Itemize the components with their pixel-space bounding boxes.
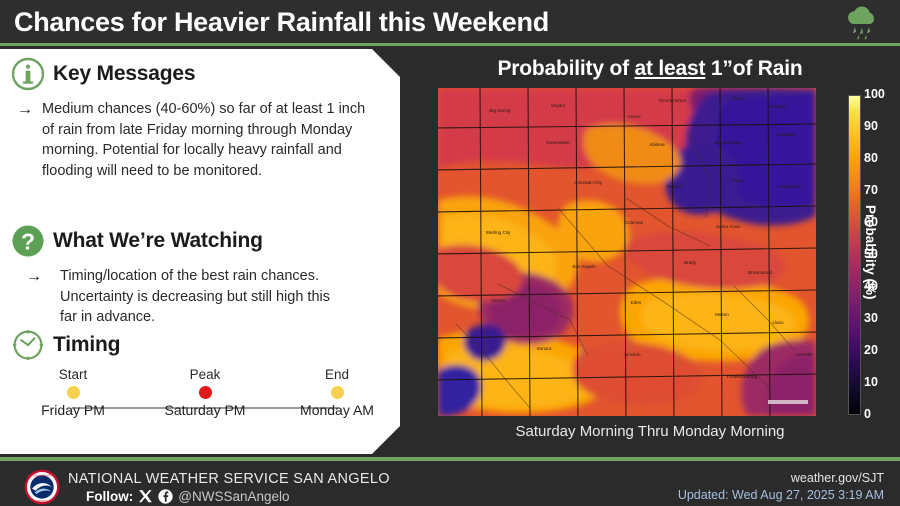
svg-text:Sweetwater: Sweetwater bbox=[546, 140, 570, 145]
map-title-underlined: at least bbox=[635, 57, 706, 80]
svg-text:Llano: Llano bbox=[772, 320, 784, 325]
timeline-node-peak: Peak Saturday PM bbox=[150, 367, 260, 419]
section-timing: Timing Start Friday PM Peak Saturday PM … bbox=[8, 325, 400, 447]
colorbar: 100 90 80 70 60 50 40 30 20 10 0 Probabi… bbox=[848, 95, 900, 415]
colorbar-gradient bbox=[848, 95, 861, 415]
x-twitter-icon[interactable] bbox=[138, 489, 153, 504]
timeline-node-dot bbox=[67, 386, 80, 399]
map-title: Probability of at least 1”of Rain bbox=[400, 57, 900, 81]
svg-text:Junction: Junction bbox=[623, 352, 641, 357]
timeline-node-end: End Monday AM bbox=[282, 367, 392, 419]
colorbar-tick: 100 bbox=[864, 87, 885, 101]
svg-text:Fredericksburg: Fredericksburg bbox=[727, 374, 758, 379]
svg-text:?: ? bbox=[21, 229, 35, 255]
map-title-pre: Probability of bbox=[498, 57, 635, 80]
section-header: ? What We’re Watching bbox=[8, 221, 400, 261]
info-circle-icon bbox=[8, 54, 48, 94]
section-title: What We’re Watching bbox=[53, 229, 263, 253]
colorbar-tick: 10 bbox=[864, 375, 878, 389]
colorbar-tick: 70 bbox=[864, 183, 878, 197]
section-title: Key Messages bbox=[53, 62, 195, 86]
svg-text:Olney: Olney bbox=[732, 96, 745, 101]
svg-text:Brownwood: Brownwood bbox=[748, 270, 772, 275]
svg-text:Colorado City: Colorado City bbox=[574, 180, 603, 185]
svg-text:Eden: Eden bbox=[631, 300, 642, 305]
map-scale-bar bbox=[768, 400, 808, 404]
footer-bar: NATIONAL WEATHER SERVICE NATIONAL WEATHE… bbox=[0, 457, 900, 506]
svg-text:Anson: Anson bbox=[627, 114, 640, 119]
bullet-item: → Timing/location of the best rain chanc… bbox=[8, 266, 400, 328]
svg-text:Snyder: Snyder bbox=[551, 103, 566, 108]
svg-text:San Angelo: San Angelo bbox=[572, 264, 596, 269]
timeline-node-start: Start Friday PM bbox=[18, 367, 128, 419]
colorbar-tick: 20 bbox=[864, 343, 878, 357]
key-messages-panel: Key Messages → Medium chances (40-60%) s… bbox=[0, 49, 400, 454]
page-title: Chances for Heavier Rainfall this Weeken… bbox=[14, 7, 549, 38]
bullet-text: Timing/location of the best rain chances… bbox=[60, 266, 338, 328]
header-bar: Chances for Heavier Rainfall this Weeken… bbox=[0, 0, 900, 46]
svg-text:Abilene: Abilene bbox=[649, 142, 665, 147]
bullet-item: → Medium chances (40-60%) so far of at l… bbox=[8, 99, 400, 181]
timeline-node-label: End bbox=[282, 367, 392, 382]
svg-text:Santa Anna: Santa Anna bbox=[716, 224, 740, 229]
arrow-marker: → bbox=[8, 266, 60, 328]
timeline-node-label: Peak bbox=[150, 367, 260, 382]
svg-text:Sonora: Sonora bbox=[537, 346, 552, 351]
question-circle-icon: ? bbox=[8, 221, 48, 261]
colorbar-tick: 80 bbox=[864, 151, 878, 165]
svg-text:Throckmorton: Throckmorton bbox=[658, 98, 687, 103]
map-canvas: Big Spring Snyder Anson Throckmorton Oln… bbox=[438, 88, 816, 416]
svg-text:Kerrville: Kerrville bbox=[796, 352, 813, 357]
svg-text:Eastland: Eastland bbox=[777, 132, 795, 137]
nws-seal-logo: NATIONAL WEATHER SERVICE bbox=[22, 469, 62, 505]
svg-text:Cisco: Cisco bbox=[732, 178, 744, 183]
office-name: NATIONAL WEATHER SERVICE SAN ANGELO bbox=[68, 471, 390, 487]
website-link[interactable]: weather.gov/SJT bbox=[791, 471, 884, 485]
updated-timestamp: Updated: Wed Aug 27, 2025 3:19 AM bbox=[678, 488, 884, 502]
timeline-node-dot bbox=[331, 386, 344, 399]
colorbar-tick: 0 bbox=[864, 407, 871, 421]
follow-row: Follow: @NWSSanAngelo bbox=[86, 489, 290, 504]
svg-text:Comanche: Comanche bbox=[779, 184, 802, 189]
probability-map[interactable]: Big Spring Snyder Anson Throckmorton Oln… bbox=[438, 88, 816, 416]
colorbar-tick: 30 bbox=[864, 311, 878, 325]
arrow-marker: → bbox=[8, 99, 42, 181]
timing-timeline: Start Friday PM Peak Saturday PM End Mon… bbox=[8, 367, 400, 447]
clock-icon bbox=[8, 325, 48, 365]
svg-text:Graham: Graham bbox=[770, 104, 787, 109]
svg-text:Coleman: Coleman bbox=[625, 220, 644, 225]
rain-cloud-icon bbox=[842, 4, 882, 42]
svg-text:Ozona: Ozona bbox=[491, 298, 505, 303]
section-title: Timing bbox=[53, 333, 120, 357]
follow-label: Follow: bbox=[86, 489, 133, 504]
colorbar-axis-label: Probability (%) bbox=[863, 205, 878, 300]
colorbar-tick: 90 bbox=[864, 119, 878, 133]
map-title-post: 1”of Rain bbox=[705, 57, 802, 80]
bullet-text: Medium chances (40-60%) so far of at lea… bbox=[42, 99, 372, 181]
section-key-messages: Key Messages → Medium chances (40-60%) s… bbox=[8, 54, 400, 181]
svg-text:Tuscola: Tuscola bbox=[666, 184, 682, 189]
timeline-node-time: Monday AM bbox=[282, 402, 392, 419]
section-what-were-watching: ? What We’re Watching → Timing/location … bbox=[8, 221, 400, 328]
svg-text:Big Spring: Big Spring bbox=[489, 108, 511, 113]
timeline-node-time: Saturday PM bbox=[164, 402, 246, 419]
section-header: Timing bbox=[8, 325, 400, 365]
svg-text:Mason: Mason bbox=[715, 312, 729, 317]
svg-text:SERVICE: SERVICE bbox=[36, 499, 49, 503]
timeline-node-label: Start bbox=[18, 367, 128, 382]
graphic-root: Chances for Heavier Rainfall this Weeken… bbox=[0, 0, 900, 506]
social-handle[interactable]: @NWSSanAngelo bbox=[178, 489, 289, 504]
facebook-icon[interactable] bbox=[158, 489, 173, 504]
section-header: Key Messages bbox=[8, 54, 400, 94]
svg-text:Brady: Brady bbox=[684, 260, 697, 265]
svg-text:Breckenridge: Breckenridge bbox=[714, 140, 742, 145]
timeline-node-time: Friday PM bbox=[18, 402, 128, 419]
map-caption: Saturday Morning Thru Monday Morning bbox=[400, 423, 900, 440]
svg-text:Sterling City: Sterling City bbox=[486, 230, 511, 235]
svg-text:NATIONAL WEATHER: NATIONAL WEATHER bbox=[27, 474, 56, 478]
timeline-node-dot bbox=[199, 386, 212, 399]
